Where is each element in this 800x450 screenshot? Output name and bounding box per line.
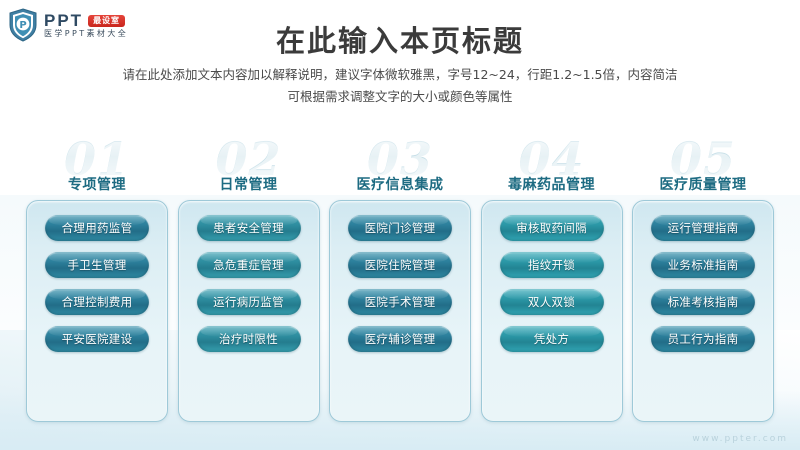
list-item[interactable]: 医院手术管理 <box>348 289 452 315</box>
list-item[interactable]: 指纹开锁 <box>500 252 604 278</box>
column-title: 医疗信息集成 <box>357 178 444 193</box>
list-item[interactable]: 运行病历监管 <box>197 289 301 315</box>
page-title: 在此输入本页标题 <box>0 18 800 60</box>
column-title: 医疗质量管理 <box>660 178 747 193</box>
list-item[interactable]: 治疗时限性 <box>197 326 301 352</box>
list-item[interactable]: 手卫生管理 <box>45 252 149 278</box>
list-item[interactable]: 急危重症管理 <box>197 252 301 278</box>
column-03: 03 医疗信息集成 医院门诊管理 医院住院管理 医院手术管理 医疗辅诊管理 <box>329 136 471 426</box>
column-02: 02 日常管理 患者安全管理 急危重症管理 运行病历监管 治疗时限性 <box>178 136 320 426</box>
list-item[interactable]: 合理控制费用 <box>45 289 149 315</box>
subtitle-line-2: 可根据需求调整文字的大小或颜色等属性 <box>0 86 800 108</box>
column-number: 03 <box>367 136 433 182</box>
column-number: 01 <box>64 136 130 182</box>
list-item[interactable]: 业务标准指南 <box>651 252 755 278</box>
column-number: 04 <box>518 136 584 182</box>
list-item[interactable]: 审核取药间隔 <box>500 215 604 241</box>
list-item[interactable]: 员工行为指南 <box>651 326 755 352</box>
list-item[interactable]: 合理用药监管 <box>45 215 149 241</box>
list-item[interactable]: 医院住院管理 <box>348 252 452 278</box>
column-number: 05 <box>670 136 736 182</box>
subtitle-line-1: 请在此处添加文本内容加以解释说明，建议字体微软雅黑，字号12~24，行距1.2~… <box>0 64 800 86</box>
column-panel: 患者安全管理 急危重症管理 运行病历监管 治疗时限性 <box>178 200 320 422</box>
column-title: 专项管理 <box>68 178 126 193</box>
list-item[interactable]: 运行管理指南 <box>651 215 755 241</box>
list-item[interactable]: 平安医院建设 <box>45 326 149 352</box>
column-title: 日常管理 <box>220 178 278 193</box>
column-panel: 审核取药间隔 指纹开锁 双人双锁 凭处方 <box>481 200 623 422</box>
list-item[interactable]: 医院门诊管理 <box>348 215 452 241</box>
column-05: 05 医疗质量管理 运行管理指南 业务标准指南 标准考核指南 员工行为指南 <box>632 136 774 426</box>
list-item[interactable]: 医疗辅诊管理 <box>348 326 452 352</box>
column-title: 毒麻药品管理 <box>508 178 595 193</box>
column-panel: 合理用药监管 手卫生管理 合理控制费用 平安医院建设 <box>26 200 168 422</box>
column-01: 01 专项管理 合理用药监管 手卫生管理 合理控制费用 平安医院建设 <box>26 136 168 426</box>
page-subtitle: 请在此处添加文本内容加以解释说明，建议字体微软雅黑，字号12~24，行距1.2~… <box>0 64 800 108</box>
column-panel: 运行管理指南 业务标准指南 标准考核指南 员工行为指南 <box>632 200 774 422</box>
column-panel: 医院门诊管理 医院住院管理 医院手术管理 医疗辅诊管理 <box>329 200 471 422</box>
list-item[interactable]: 标准考核指南 <box>651 289 755 315</box>
column-04: 04 毒麻药品管理 审核取药间隔 指纹开锁 双人双锁 凭处方 <box>481 136 623 426</box>
list-item[interactable]: 患者安全管理 <box>197 215 301 241</box>
columns-container: 01 专项管理 合理用药监管 手卫生管理 合理控制费用 平安医院建设 02 日常… <box>26 136 774 426</box>
list-item[interactable]: 双人双锁 <box>500 289 604 315</box>
list-item[interactable]: 凭处方 <box>500 326 604 352</box>
column-number: 02 <box>215 136 281 182</box>
watermark: www.ppter.com <box>692 434 788 444</box>
